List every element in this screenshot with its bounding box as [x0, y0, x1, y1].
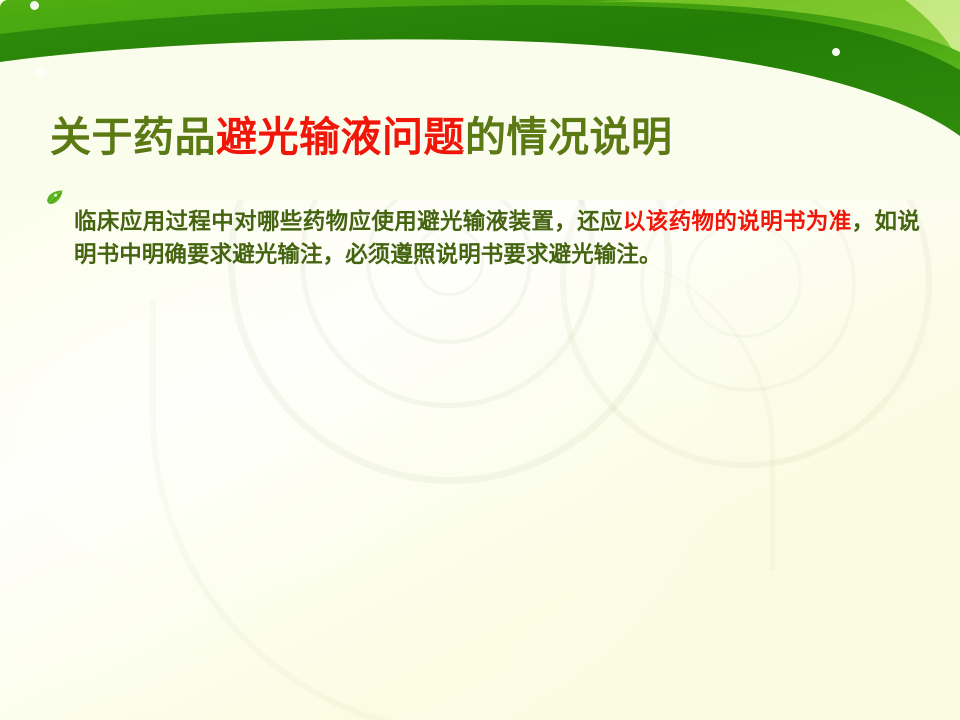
bullet-segment-highlight: 以该药物的说明书为准	[623, 209, 852, 234]
bullet-list-item: 临床应用过程中对哪些药物应使用避光输液装置，还应以该药物的说明书为准，如说明书中…	[44, 182, 920, 293]
slide-canvas: 关于药品避光输液问题的情况说明 临床应用过程中对哪些药物应使用避光输液装置，还应…	[0, 0, 960, 720]
page-title: 关于药品避光输液问题的情况说明	[50, 115, 673, 161]
title-segment-highlight: 避光输液问题	[216, 114, 465, 160]
bullet-text: 临床应用过程中对哪些药物应使用避光输液装置，还应以该药物的说明书为准，如说明书中…	[74, 205, 920, 271]
bullet-segment-normal: 临床应用过程中对哪些药物应使用避光输液装置，还应	[74, 209, 623, 234]
title-segment-suffix: 的情况说明	[465, 114, 673, 160]
slide-background	[0, 0, 960, 720]
title-segment-prefix: 关于药品	[50, 114, 216, 160]
leaf-bullet-icon	[44, 188, 66, 210]
